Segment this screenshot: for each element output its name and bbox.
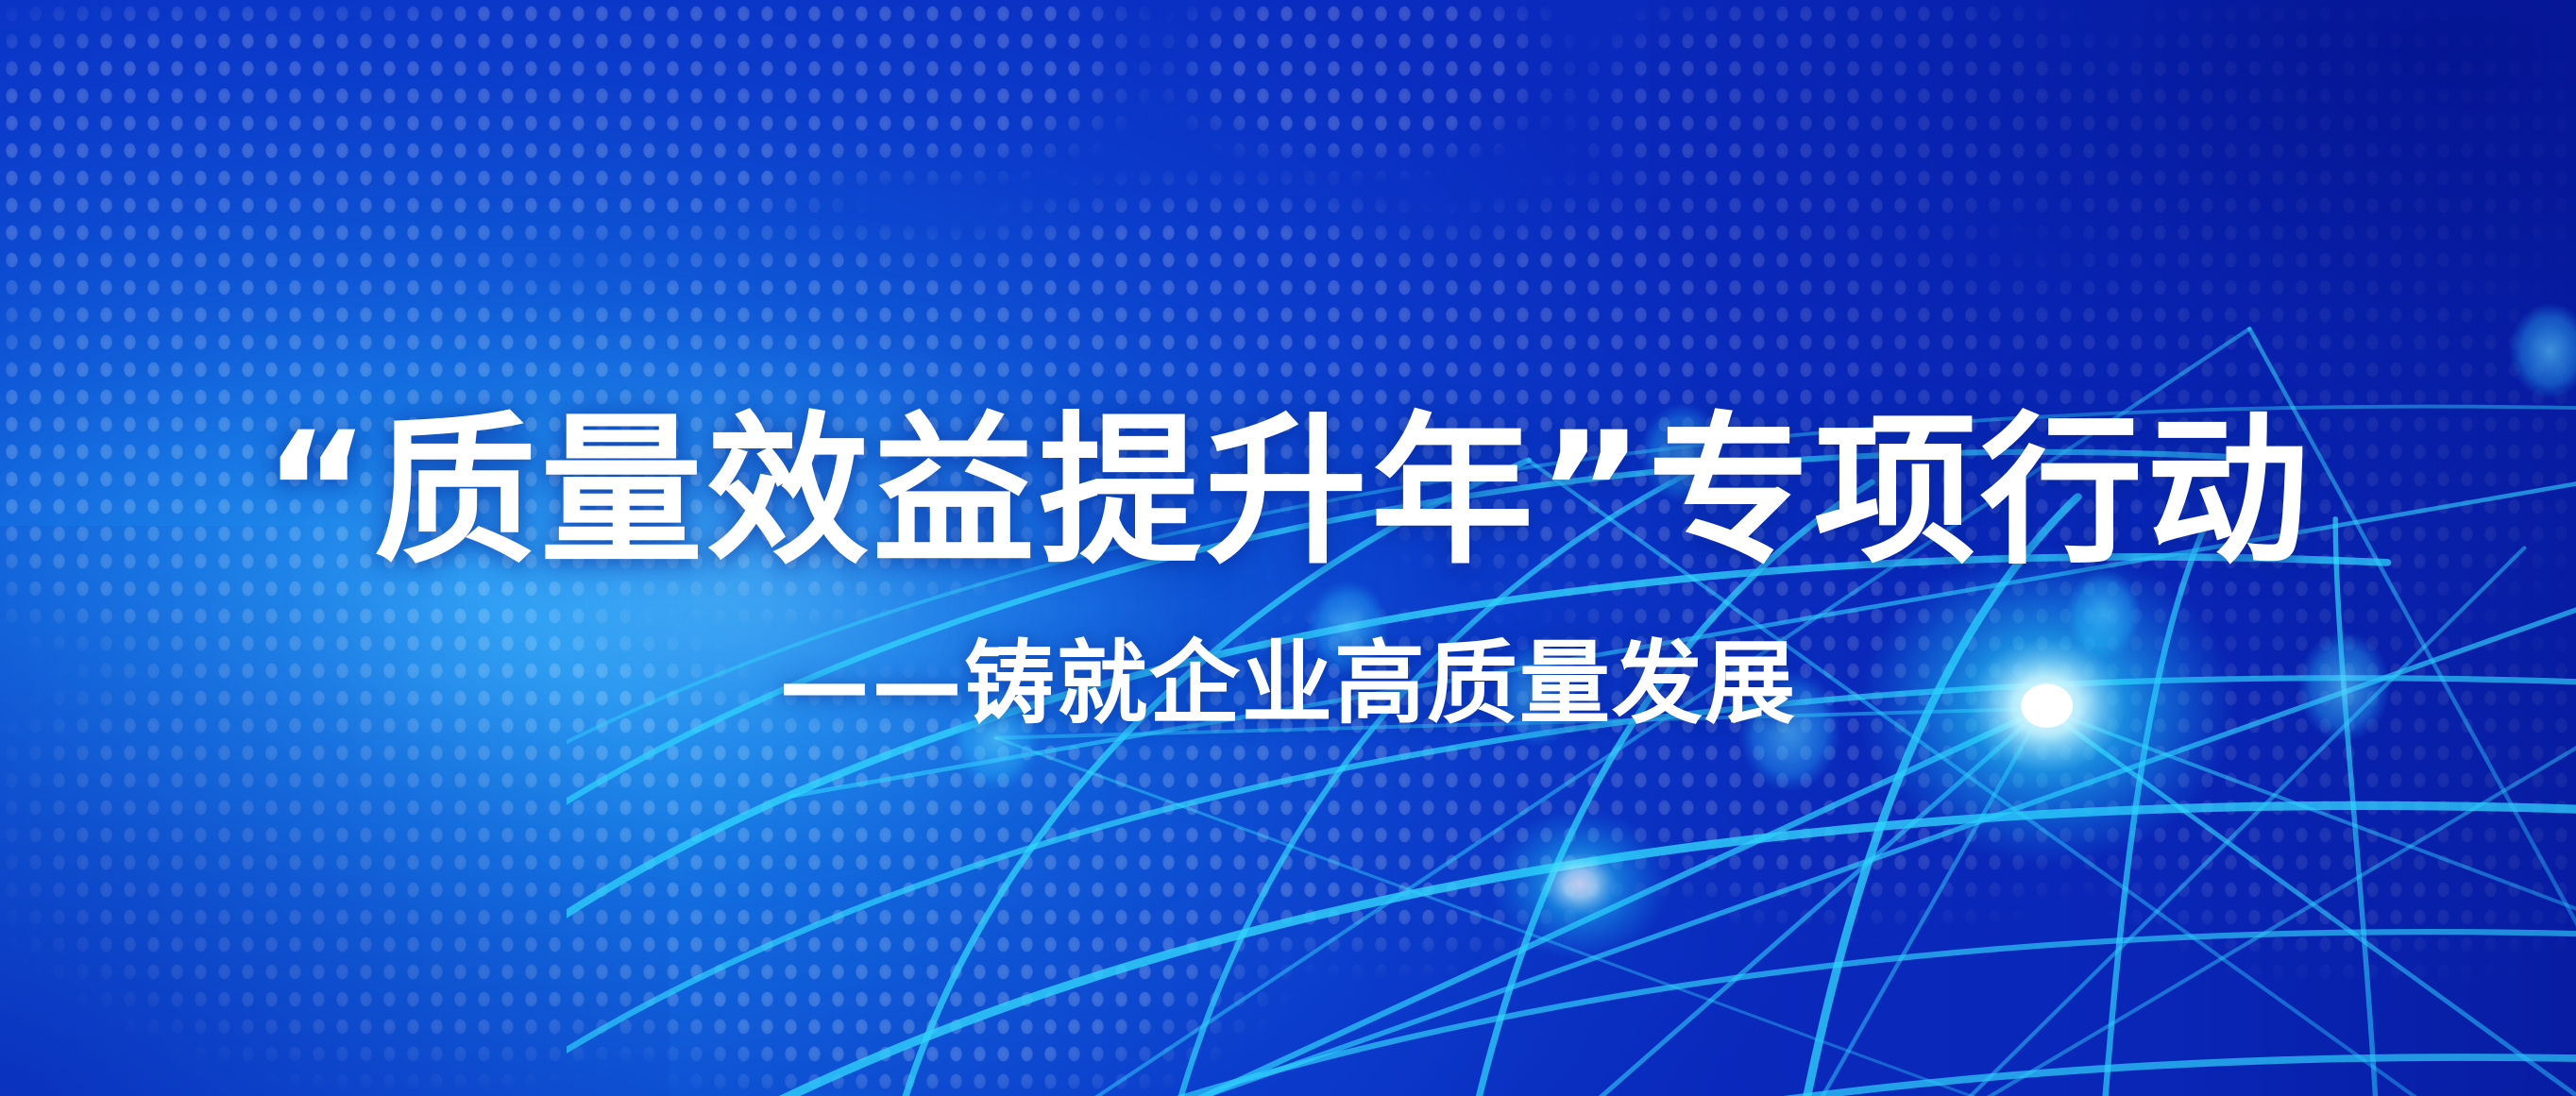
promotional-banner: “质量效益提升年”专项行动 ——铸就企业高质量发展 [0,0,2576,1096]
top-right-vignette [1649,0,2576,504]
bottom-left-vignette [0,526,669,1096]
